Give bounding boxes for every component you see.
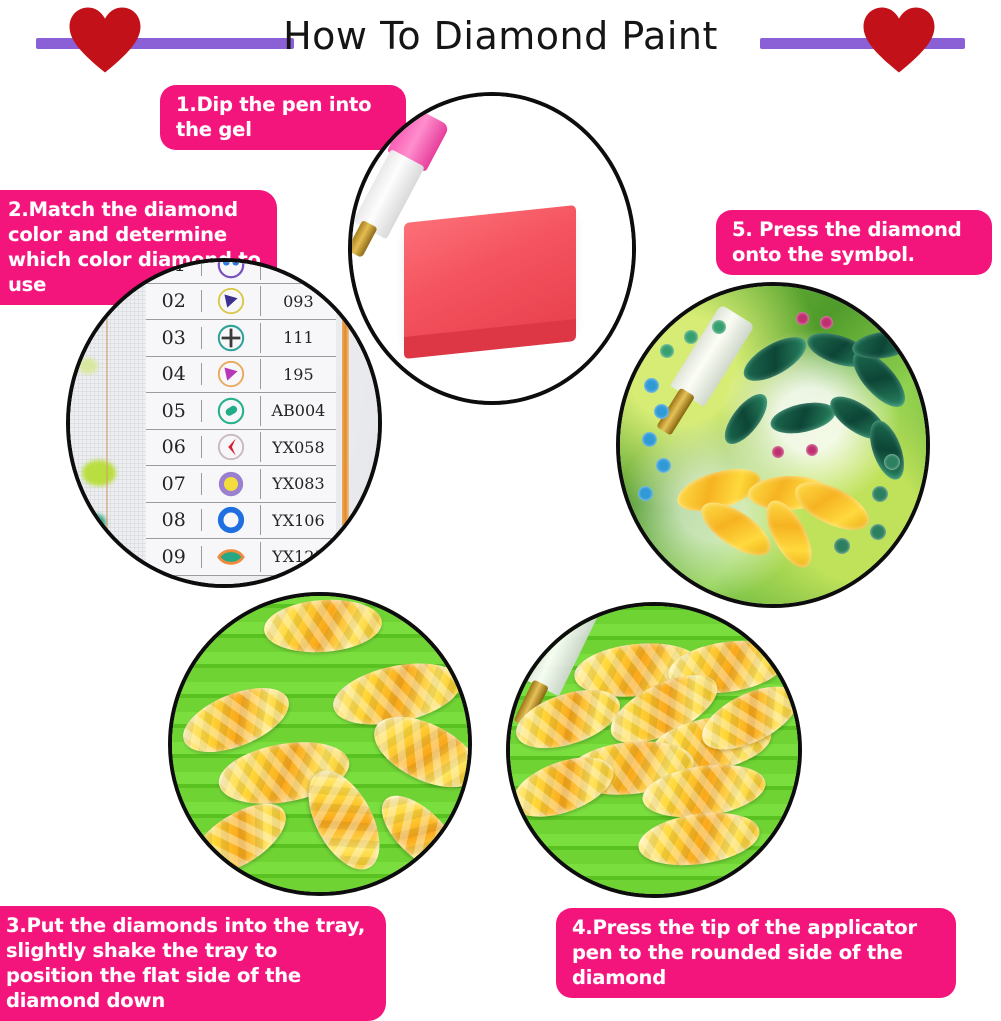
step-3-label: 3.Put the diamonds into the tray, slight… [0,906,386,1021]
color-chart-row-code: 111 [261,328,336,347]
printed-canvas [620,286,926,604]
canvas-color-blob [78,358,98,374]
pen-dipping-in-gel-photo [348,92,636,405]
color-chart-row-number: 09 [146,546,202,568]
diamond-gem [772,446,784,458]
color-chart-row: 02 093 [146,284,336,321]
diamond-gem [181,790,297,889]
canvas-edge-line [106,262,108,584]
header: How To Diamond Paint [0,0,1001,80]
infographic-root: How To Diamond Paint 1.Dip the pen into … [0,0,1001,1001]
color-chart-row-code: 093 [261,292,336,311]
color-symbol-chart-photo: 01 02802 09303 11104 19505 AB00406 YX058… [66,258,382,588]
diamond-gem [806,444,818,456]
diamond-gem [712,320,726,334]
pen-picking-diamond-photo [506,602,802,898]
ring-icon [202,505,260,535]
orange-binding-strip [342,262,349,584]
chevron-left-icon [202,432,260,462]
capsule-icon [202,396,260,426]
diamond-gem [717,387,774,450]
diamond-gem [654,404,669,419]
color-chart-row: 03 111 [146,320,336,357]
step-5-label: 5. Press the diamond onto the symbol. [716,210,992,275]
color-chart-row-number: 07 [146,473,202,495]
diamond-gem [870,524,886,540]
color-chart-table: 01 02802 09303 11104 19505 AB00406 YX058… [146,258,336,576]
diamond-gem [656,458,671,473]
diamond-gem [768,397,838,438]
triangle-icon [202,286,260,316]
color-chart-row: 06 YX058 [146,430,336,467]
color-chart-row: 09 YX125 [146,539,336,576]
diamond-gem [635,806,763,872]
leaf-icon [202,542,260,572]
diamond-gem [262,596,383,656]
diamond-tray [172,596,468,892]
gem-facets [369,783,470,883]
color-chart-row-code: YX058 [261,438,336,457]
diamond-tray [510,606,798,894]
dot-in-ring-icon [202,469,260,499]
double-dot-circle-icon [202,258,260,280]
diamond-gem [820,316,833,329]
diamonds-in-tray-photo [168,592,472,896]
gem-facets [262,596,383,656]
step-4-label: 4.Press the tip of the applicator pen to… [556,908,956,998]
color-chart-row-number: 02 [146,290,202,312]
color-chart-row-number: 03 [146,327,202,349]
diamond-gem [660,344,674,358]
gem-facets [635,806,763,872]
color-chart-row-number: 08 [146,509,202,531]
color-chart-row: 04 195 [146,357,336,394]
placing-diamond-on-canvas-photo [616,282,930,608]
diamond-gem [369,783,470,883]
triangle-icon [202,359,260,389]
diamond-gem [863,416,911,484]
diamond-gem [638,486,653,501]
color-chart-row-number: 04 [146,363,202,385]
gel-wax-square [404,205,576,343]
color-chart-row-number: 06 [146,436,202,458]
pen-tip [348,220,378,258]
color-chart-row-code: AB004 [261,401,336,420]
diamond-gem [644,378,659,393]
diamond-gem [684,330,698,344]
color-chart-row: 01 028 [146,258,336,284]
diamond-gem [642,432,657,447]
color-chart-row-number: 05 [146,400,202,422]
color-chart-row-code: YX125 [261,547,336,566]
page-title: How To Diamond Paint [0,14,1001,58]
canvas-color-blob [84,514,106,532]
diamond-gem [872,486,888,502]
color-chart-row: 05 AB004 [146,393,336,430]
color-chart-row: 07 YX083 [146,466,336,503]
gem-facets [181,790,297,889]
color-chart-row: 08 YX106 [146,503,336,540]
plus-icon [202,323,260,353]
diamond-gem [834,538,850,554]
color-chart-row-code: YX083 [261,474,336,493]
canvas-color-blob [82,460,116,486]
diamond-gem [884,454,900,470]
color-chart-row-code: 195 [261,365,336,384]
color-chart-row-code: YX106 [261,511,336,530]
diamond-gem [796,312,809,325]
